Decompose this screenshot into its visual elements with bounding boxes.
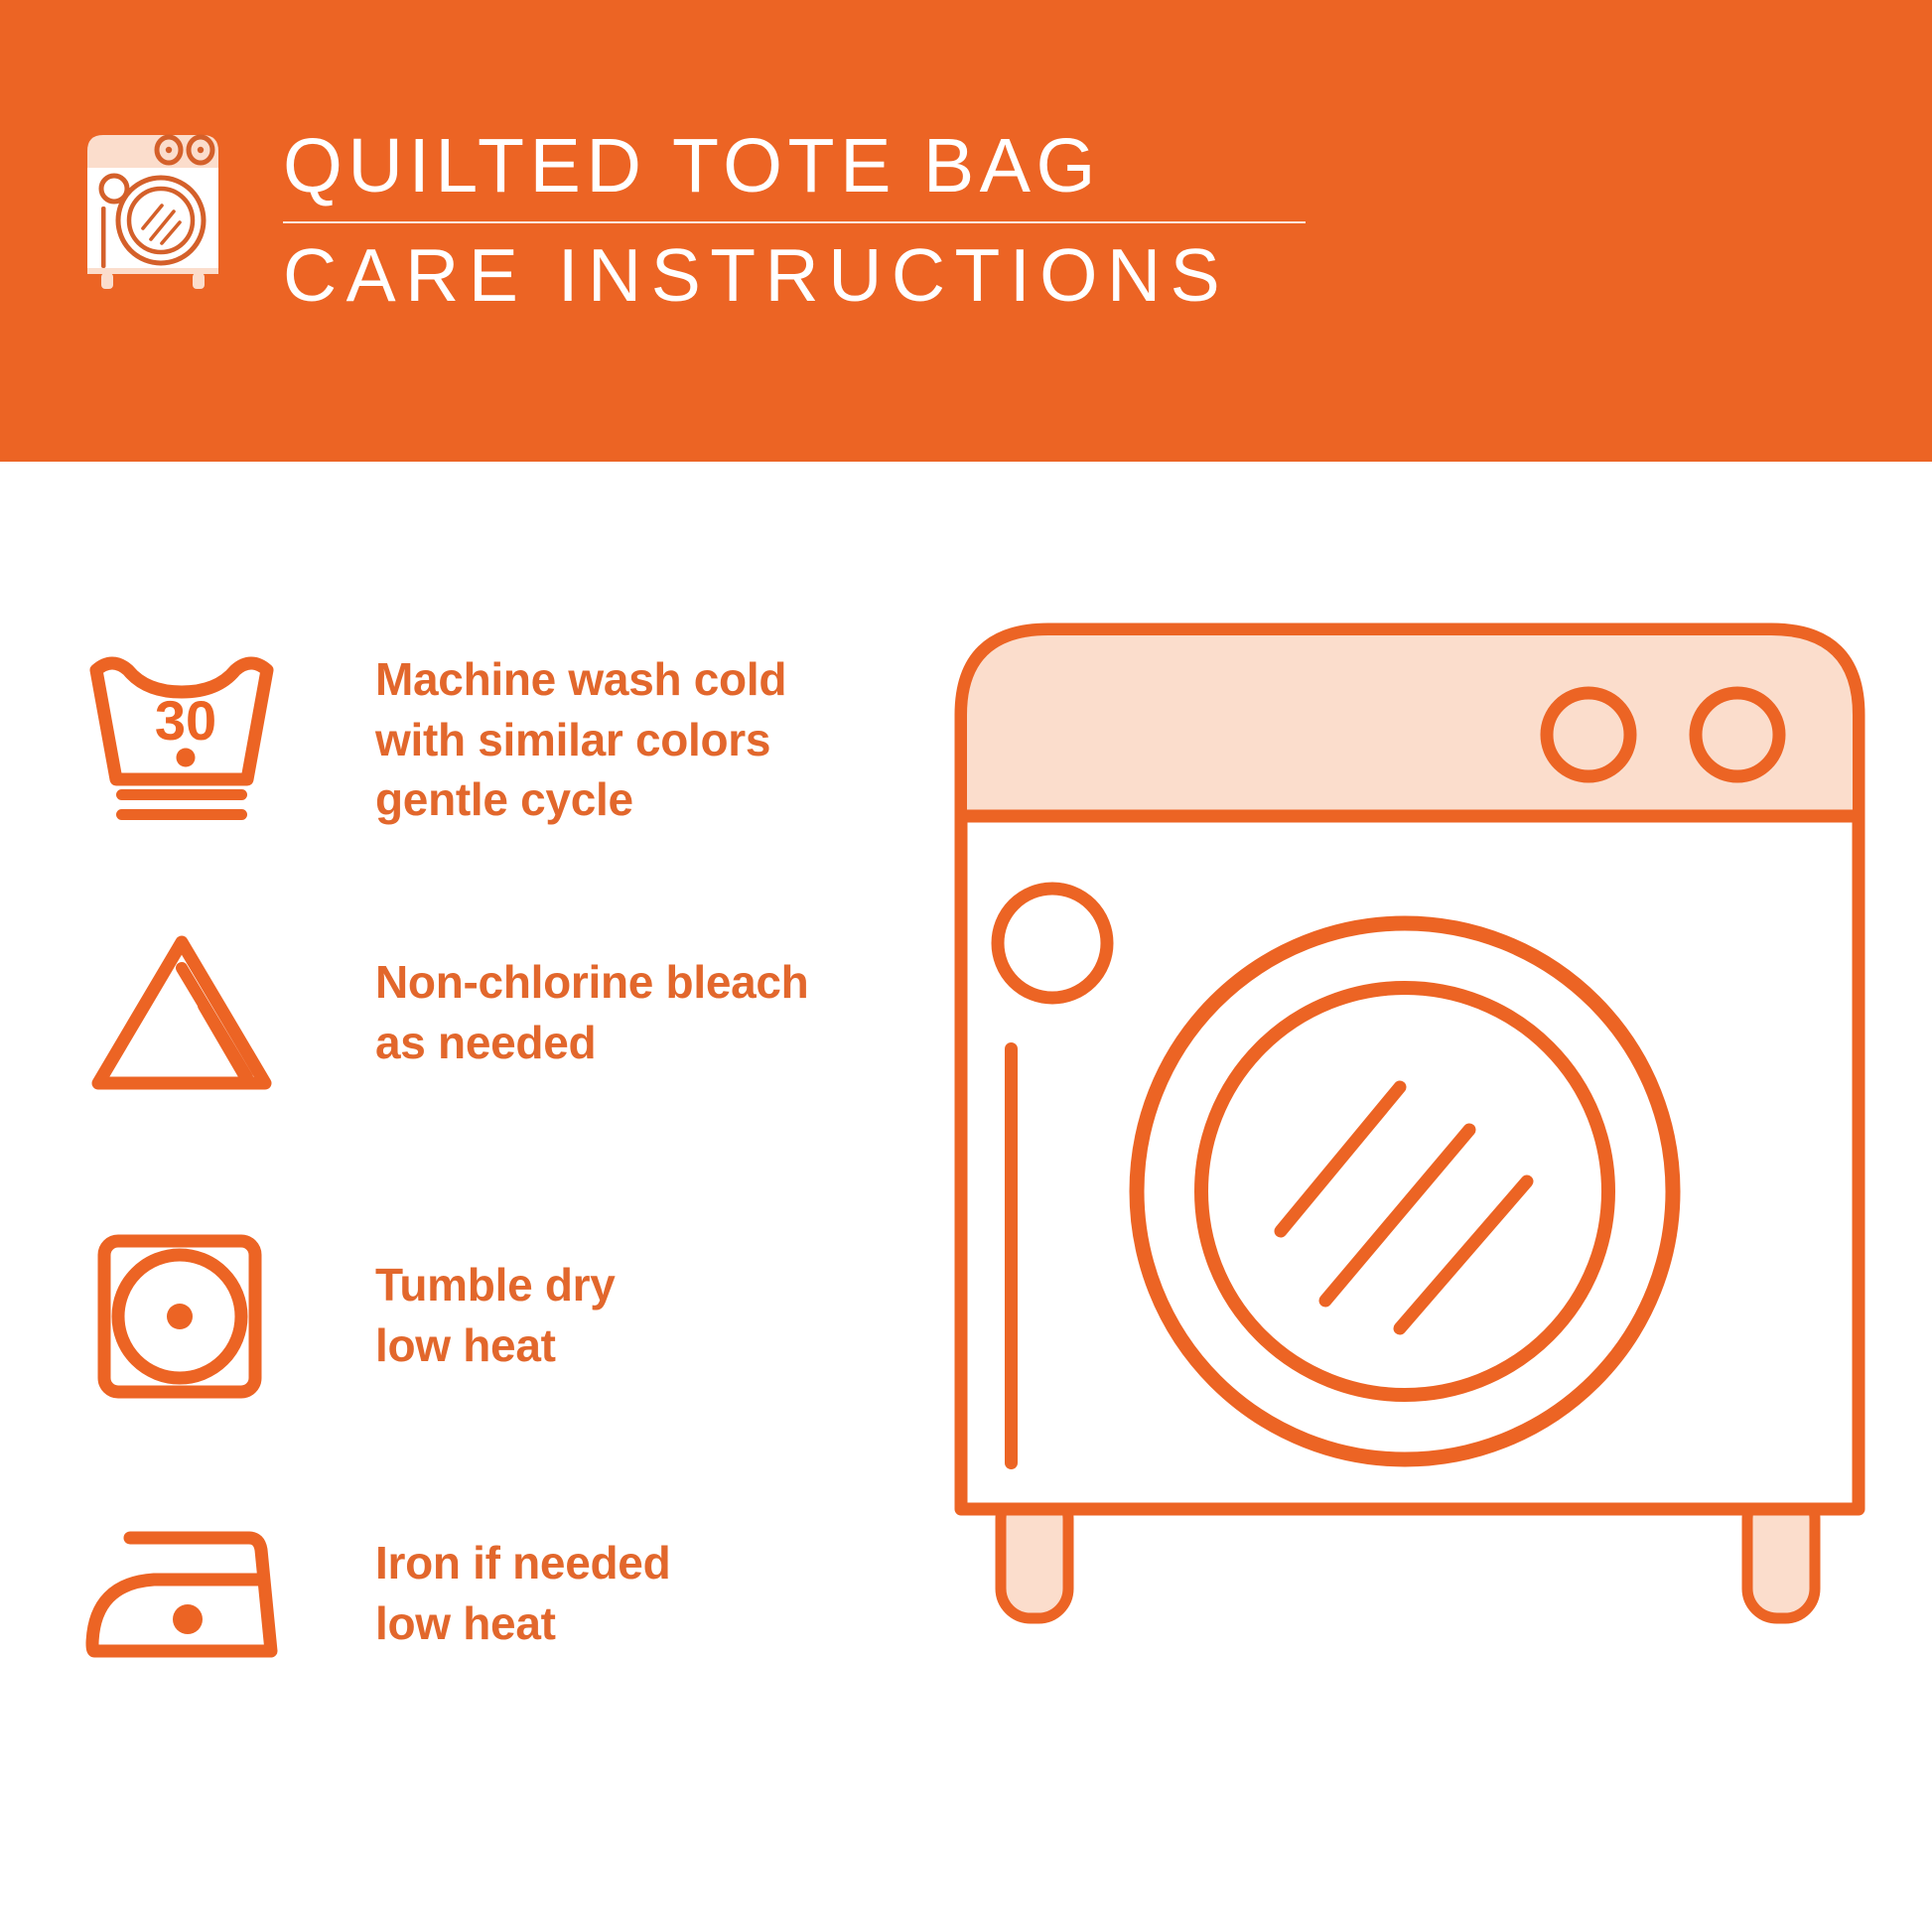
care-row-iron: Iron if needed low heat [77, 1494, 892, 1693]
dial-knob-right [1696, 693, 1779, 776]
page-title: QUILTED TOTE BAG [283, 127, 1315, 206]
care-line: Iron if needed [375, 1533, 670, 1593]
care-line: Tumble dry [375, 1255, 616, 1315]
door-hinge-line [1005, 1042, 1018, 1469]
care-line: Non-chlorine bleach [375, 952, 808, 1013]
care-line: low heat [375, 1593, 670, 1654]
svg-text:30: 30 [155, 689, 216, 752]
care-label-tumble-dry: Tumble dry low heat [286, 1255, 616, 1375]
washing-machine-logo-icon [77, 129, 236, 293]
care-instruction-list: 30 Machine wash cold with similar colors… [0, 462, 894, 1932]
iron-low-heat-icon [77, 1494, 286, 1693]
care-row-bleach: Non-chlorine bleach as needed [77, 913, 892, 1112]
washing-machine-illustration [953, 616, 1866, 1628]
bleach-triangle-icon [77, 913, 286, 1112]
header-title-group: QUILTED TOTE BAG CARE INSTRUCTIONS [283, 127, 1315, 313]
care-label-machine-wash: Machine wash cold with similar colors ge… [286, 649, 786, 830]
care-row-machine-wash: 30 Machine wash cold with similar colors… [77, 640, 892, 839]
page-subtitle: CARE INSTRUCTIONS [283, 237, 1315, 314]
care-row-tumble-dry: Tumble dry low heat [77, 1216, 892, 1415]
care-line: gentle cycle [375, 769, 786, 830]
title-divider [283, 221, 1306, 223]
care-line: with similar colors [375, 710, 786, 770]
tumble-dry-low-icon [77, 1216, 286, 1415]
wash-tub-30-icon: 30 [77, 640, 286, 839]
header-banner: QUILTED TOTE BAG CARE INSTRUCTIONS [0, 0, 1932, 462]
care-line: Machine wash cold [375, 649, 786, 710]
care-label-bleach: Non-chlorine bleach as needed [286, 952, 808, 1072]
dial-knob-left [1547, 693, 1630, 776]
care-line: low heat [375, 1315, 616, 1376]
care-label-iron: Iron if needed low heat [286, 1533, 670, 1653]
care-line: as needed [375, 1013, 808, 1073]
